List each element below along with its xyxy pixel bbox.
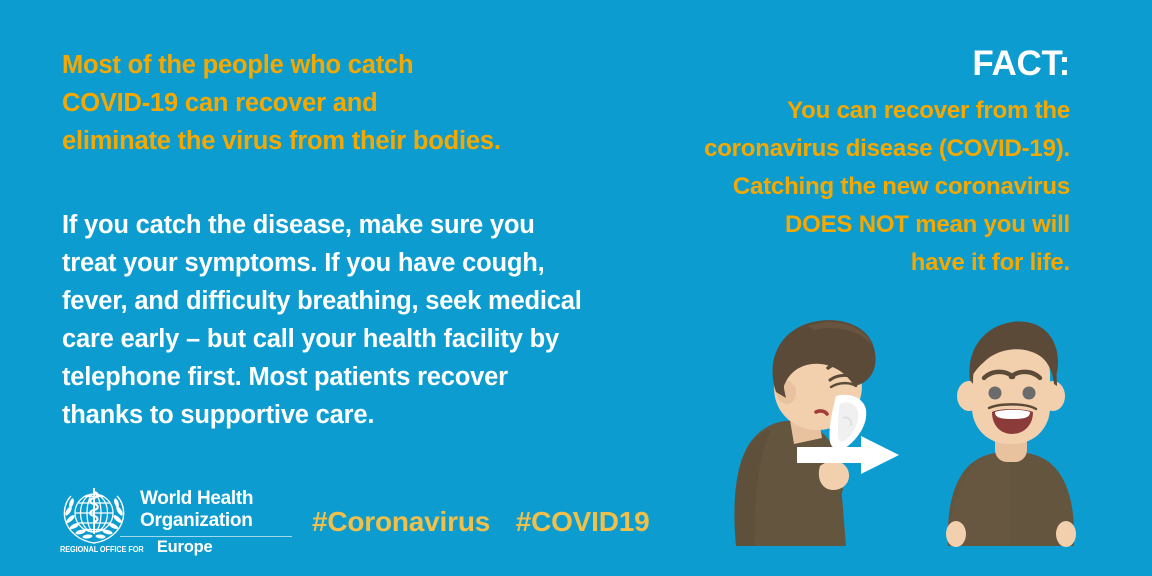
hashtag-group: #Coronavirus #COVID19 — [312, 505, 650, 539]
fact-line: You can recover from the — [650, 92, 1070, 130]
body-line: fever, and difficulty breathing, seek me… — [62, 282, 602, 320]
fact-paragraph: You can recover from the coronavirus dis… — [650, 92, 1070, 282]
headline: Most of the people who catch COVID-19 ca… — [62, 46, 602, 160]
fact-line: Catching the new coronavirus — [650, 168, 1070, 206]
hashtag-coronavirus: #Coronavirus — [312, 506, 490, 537]
who-logo: World Health Organization REGIONAL OFFIC… — [58, 486, 298, 556]
body-line: care early – but call your health facili… — [62, 320, 602, 358]
infographic-poster: Most of the people who catch COVID-19 ca… — [0, 0, 1152, 576]
fact-line: coronavirus disease (COVID-19). — [650, 130, 1070, 168]
who-region-label: REGIONAL OFFICE FOR Europe — [60, 538, 298, 557]
body-line: thanks to supportive care. — [62, 396, 602, 434]
fact-line: DOES NOT mean you will — [650, 206, 1070, 244]
body-line: treat your symptoms. If you have cough, — [62, 244, 602, 282]
fact-panel: FACT: You can recover from the coronavir… — [650, 44, 1070, 282]
headline-line: eliminate the virus from their bodies. — [62, 122, 602, 160]
who-logo-divider — [120, 536, 292, 537]
body-line: If you catch the disease, make sure you — [62, 206, 602, 244]
who-wordmark-line: World Health — [140, 488, 292, 510]
hashtag-covid19: #COVID19 — [516, 506, 650, 537]
fact-label: FACT: — [650, 44, 1070, 84]
headline-line: COVID-19 can recover and — [62, 84, 602, 122]
who-region-prefix: REGIONAL OFFICE FOR — [60, 545, 144, 554]
left-text-column: Most of the people who catch COVID-19 ca… — [62, 46, 602, 434]
who-wordmark: World Health Organization — [140, 488, 292, 531]
fact-line: have it for life. — [650, 244, 1070, 282]
headline-line: Most of the people who catch — [62, 46, 602, 84]
sick-person-figure — [734, 320, 875, 546]
body-paragraph: If you catch the disease, make sure you … — [62, 206, 602, 434]
right-arrow-icon — [797, 436, 899, 474]
healthy-person-figure — [946, 321, 1076, 547]
who-wordmark-line: Organization — [140, 510, 292, 532]
who-region-name: Europe — [157, 538, 213, 557]
body-line: telephone first. Most patients recover — [62, 358, 602, 396]
